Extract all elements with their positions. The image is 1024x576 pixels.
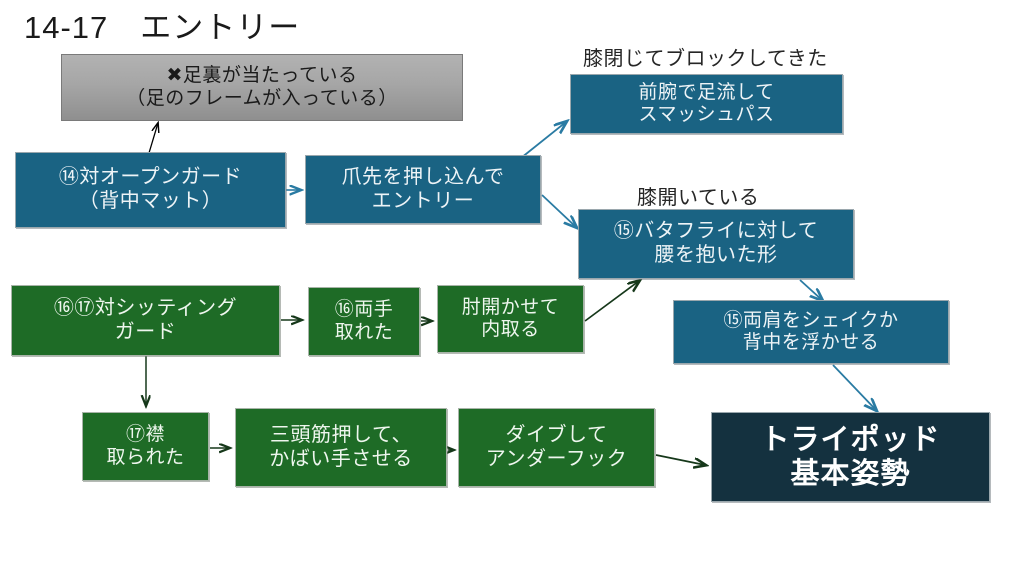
arrow-toe-entry-to-smashpass — [521, 122, 566, 158]
step-1617-sitting-guard-line2: ガード — [115, 321, 177, 345]
step-16-both-hands[interactable]: ⑯両手 取れた — [308, 287, 420, 356]
step-15-butterfly-line2: 腰を抱いた形 — [655, 244, 778, 268]
arrow-14-to-note — [149, 123, 158, 153]
step-14-open-guard[interactable]: ⑭対オープンガード （背中マット） — [15, 152, 286, 228]
step-dive-underhook-line1: ダイブして — [506, 424, 608, 448]
step-triceps-push-line2: かばい手させる — [269, 448, 413, 472]
step-17-collar-taken-line1: ⑰襟 — [126, 424, 165, 446]
step-elbow-inside[interactable]: 肘開かせて 内取る — [437, 285, 584, 353]
step-triceps-push-line1: 三頭筋押して、 — [270, 424, 412, 448]
step-16-both-hands-line2: 取れた — [335, 322, 394, 344]
step-dive-underhook[interactable]: ダイブして アンダーフック — [458, 408, 655, 487]
step-16-both-hands-line1: ⑯両手 — [335, 299, 394, 321]
step-tripod-base-line2: 基本姿勢 — [790, 457, 910, 491]
step-triceps-push[interactable]: 三頭筋押して、 かばい手させる — [235, 408, 447, 487]
arrow-toe-entry-to-butterfly — [542, 195, 576, 227]
step-14-open-guard-line2: （背中マット） — [79, 190, 223, 214]
step-elbow-inside-line2: 内取る — [481, 319, 540, 341]
caption-knee-closed: 膝閉じてブロックしてきた — [583, 42, 828, 71]
step-toe-entry-line2: エントリー — [372, 190, 475, 214]
arrow-elbow-to-butterfly — [585, 281, 639, 321]
step-14-open-guard-line1: ⑭対オープンガード — [59, 166, 242, 190]
step-toe-entry-line1: 爪先を押し込んで — [342, 166, 505, 190]
step-forearm-smashpass[interactable]: 前腕で足流して スマッシュパス — [570, 74, 843, 134]
step-toe-entry[interactable]: 爪先を押し込んで エントリー — [305, 155, 541, 224]
step-1617-sitting-guard-line1: ⑯⑰対シッティング — [54, 297, 237, 321]
arrow-shoulder-shake-to-tripod — [833, 365, 876, 410]
arrow-butterfly-to-shoulder-shake — [800, 280, 822, 300]
step-15-shoulder-shake-line2: 背中を浮かせる — [743, 332, 880, 354]
step-15-shoulder-shake[interactable]: ⑮両肩をシェイクか 背中を浮かせる — [673, 300, 949, 364]
step-tripod-base-line1: トライポッド — [760, 423, 940, 457]
step-1617-sitting-guard[interactable]: ⑯⑰対シッティング ガード — [11, 285, 280, 356]
arrow-dive-to-tripod — [656, 455, 705, 465]
step-forearm-smashpass-line1: 前腕で足流して — [639, 82, 775, 104]
step-15-shoulder-shake-line1: ⑮両肩をシェイクか — [723, 310, 898, 332]
caption-knee-open: 膝開いている — [637, 181, 759, 210]
note-sole-contact-line1: ✖足裏が当たっている — [167, 65, 358, 87]
step-15-butterfly-line1: ⑮バタフライに対して — [614, 220, 818, 244]
note-sole-contact: ✖足裏が当たっている （足のフレームが入っている） — [61, 54, 463, 121]
note-sole-contact-line2: （足のフレームが入っている） — [126, 88, 397, 110]
step-forearm-smashpass-line2: スマッシュパス — [639, 104, 775, 126]
step-17-collar-taken-line2: 取られた — [106, 447, 184, 469]
slide-canvas: 14-17 エントリー — [0, 0, 1024, 576]
step-dive-underhook-line2: アンダーフック — [486, 448, 628, 472]
step-elbow-inside-line1: 肘開かせて — [462, 297, 560, 319]
page-title: 14-17 エントリー — [24, 2, 300, 47]
step-15-butterfly[interactable]: ⑮バタフライに対して 腰を抱いた形 — [578, 209, 854, 279]
step-17-collar-taken[interactable]: ⑰襟 取られた — [82, 412, 209, 481]
step-tripod-base[interactable]: トライポッド 基本姿勢 — [711, 412, 990, 502]
